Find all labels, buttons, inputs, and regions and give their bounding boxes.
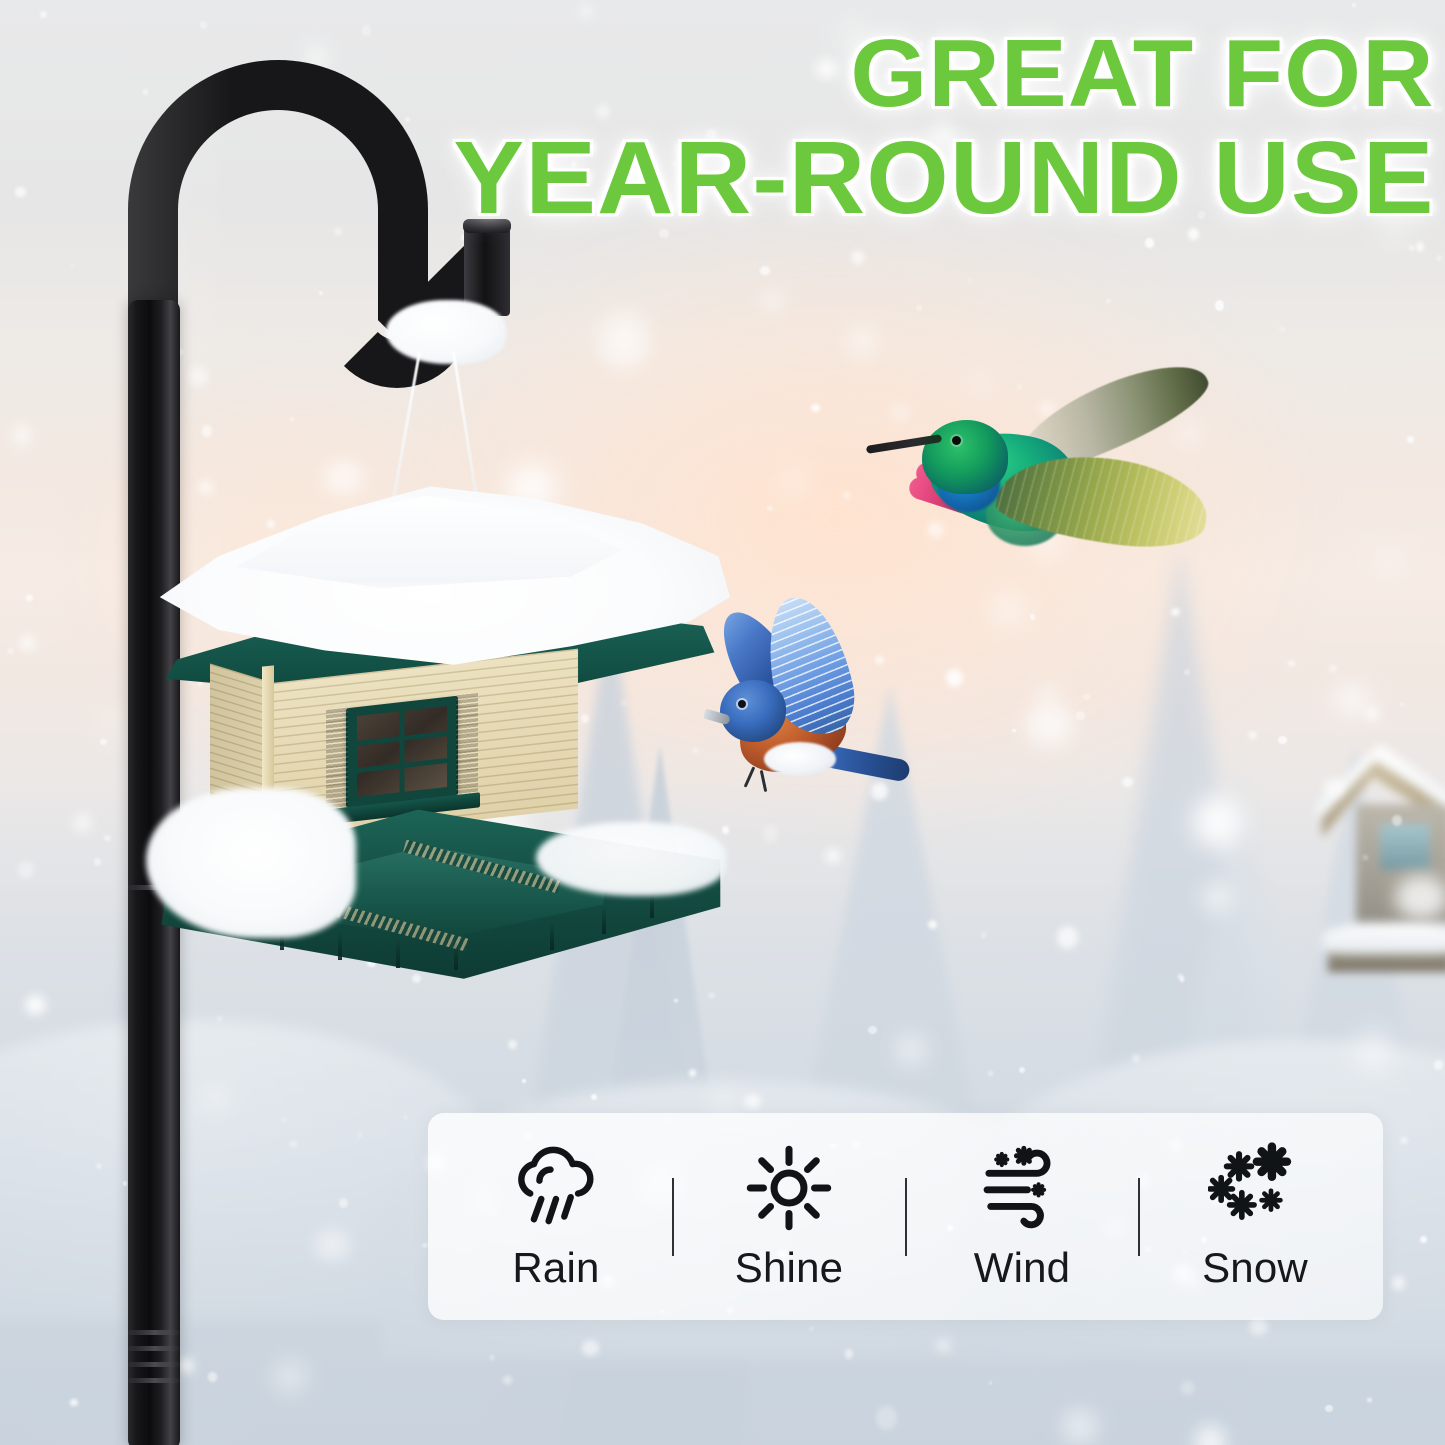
snow-particle xyxy=(689,1069,696,1077)
feature-label-snow: Snow xyxy=(1202,1244,1308,1292)
feature-rain: Rain xyxy=(472,1142,640,1292)
snow-particle xyxy=(1193,796,1242,848)
headline-line-1: GREAT FOR xyxy=(454,24,1435,124)
snow-particle xyxy=(582,1340,598,1355)
snow-particle xyxy=(1076,711,1086,720)
snow-particle xyxy=(1323,779,1343,796)
feature-label-wind: Wind xyxy=(974,1244,1071,1292)
snow-particle xyxy=(1395,875,1445,921)
feeder-window-shutter-right xyxy=(456,691,478,797)
snow-particle xyxy=(1409,245,1414,250)
pole-joint-rib xyxy=(128,1346,180,1351)
snow-particle xyxy=(843,492,851,499)
snow-particle xyxy=(868,1026,877,1034)
snow-particle xyxy=(876,1406,897,1430)
snow-particle xyxy=(1180,977,1184,981)
snow-particle xyxy=(1064,1410,1096,1443)
snow-particle xyxy=(988,1071,992,1076)
snow-particle xyxy=(781,469,806,493)
hummingbird-eye xyxy=(952,436,961,445)
snow-particle xyxy=(826,849,840,863)
snow-particle xyxy=(1132,1054,1140,1063)
snow-particle xyxy=(1204,885,1230,910)
snow-particle xyxy=(1215,300,1225,311)
snow-particle xyxy=(916,305,922,311)
snow-particle xyxy=(1420,1236,1427,1243)
feature-wind: Wind xyxy=(938,1142,1106,1292)
snow-particle xyxy=(1392,815,1402,825)
snow-particle xyxy=(1012,729,1015,732)
snow-particle xyxy=(1400,703,1404,706)
snow-particle xyxy=(1416,242,1424,252)
feeder-window xyxy=(346,696,458,809)
snow-particle xyxy=(1378,550,1401,572)
snow-particle xyxy=(936,1339,950,1351)
feature-label-rain: Rain xyxy=(512,1244,599,1292)
snow-particle xyxy=(1036,684,1060,704)
snow-particle xyxy=(1083,694,1090,700)
snow-particle xyxy=(767,506,773,511)
snow-particle xyxy=(1354,1030,1395,1072)
feeder-tray-rib xyxy=(550,922,554,950)
snow-particle xyxy=(580,5,591,17)
snow-particle xyxy=(1145,238,1154,247)
bird-feeder xyxy=(150,470,750,1030)
bluebird xyxy=(712,600,942,830)
feature-divider xyxy=(672,1178,674,1256)
snow-particle xyxy=(989,1381,992,1384)
snow-particle xyxy=(811,404,820,412)
snow-particle xyxy=(1178,974,1184,979)
pole-joint-rib xyxy=(128,1378,180,1383)
feeder-tray-snow-left xyxy=(146,788,356,938)
wind-icon xyxy=(972,1142,1072,1234)
rain-cloud-icon xyxy=(506,1142,606,1234)
snow-particle xyxy=(810,1327,813,1330)
snow-particle xyxy=(1363,855,1368,860)
bluebird-eye xyxy=(738,700,746,708)
snow-particle xyxy=(1325,1405,1333,1412)
snow-particle xyxy=(946,669,963,687)
sun-icon xyxy=(739,1142,839,1234)
headline-line-2: YEAR-ROUND USE xyxy=(454,124,1435,231)
snow-particle xyxy=(599,313,649,369)
bluebird-head xyxy=(720,680,786,742)
snow-particle xyxy=(1352,3,1355,6)
feeder-tray-rib xyxy=(338,932,342,960)
banner-stage: GREAT FOR YEAR-ROUND USE Rain xyxy=(0,0,1445,1445)
feeder-window-frame xyxy=(346,696,458,809)
feeder-window-glass xyxy=(357,706,447,797)
feature-label-shine: Shine xyxy=(735,1244,843,1292)
snow-particle xyxy=(1334,685,1370,716)
feature-shine: Shine xyxy=(705,1142,873,1292)
snow-particle xyxy=(1184,669,1190,675)
snow-particle xyxy=(1434,1060,1443,1070)
weather-feature-panel: Rain Shine xyxy=(428,1113,1383,1320)
snow-particle xyxy=(1392,1276,1405,1290)
snow-particle xyxy=(1106,299,1111,304)
snow-particle xyxy=(760,266,770,275)
pole-joint-rib xyxy=(128,1362,180,1367)
bluebird-belly xyxy=(764,742,836,776)
feeder-window-mullion-vertical xyxy=(400,711,405,793)
snow-particle xyxy=(1122,777,1133,787)
snow-particle xyxy=(744,1094,761,1109)
snow-particle xyxy=(845,1349,853,1358)
snow-particle xyxy=(1026,703,1073,746)
snow-particle xyxy=(1019,1067,1026,1073)
snow-particle xyxy=(1400,1137,1407,1144)
snow-particle xyxy=(1437,256,1441,260)
bluebird-foot xyxy=(760,770,768,792)
snow-particle xyxy=(928,920,937,929)
feeder-tray-rib xyxy=(396,940,400,968)
feature-divider xyxy=(905,1178,907,1256)
feeder-tray-snow-right xyxy=(536,822,726,896)
snow-particle xyxy=(1057,926,1078,949)
snow-particle xyxy=(1281,327,1284,331)
hook-snow-cap xyxy=(386,300,506,364)
snow-particle xyxy=(1278,736,1287,744)
feeder-tray-rib xyxy=(454,942,458,970)
snow-particle xyxy=(852,251,864,264)
feature-snow: Snow xyxy=(1171,1142,1339,1292)
snow-particle xyxy=(1330,666,1336,671)
snow-particle xyxy=(761,292,784,311)
headline: GREAT FOR YEAR-ROUND USE xyxy=(482,24,1435,231)
snow-particle xyxy=(1249,1318,1268,1336)
snow-particle xyxy=(1365,707,1380,721)
snow-particle xyxy=(1248,731,1257,739)
snow-particle xyxy=(1181,1381,1194,1395)
snow-particle xyxy=(1288,661,1295,666)
hummingbird-head xyxy=(922,420,1008,494)
snow-particle xyxy=(1343,385,1346,388)
snow-particle xyxy=(713,1090,735,1112)
feature-divider xyxy=(1138,1178,1140,1256)
snow-particle xyxy=(1407,436,1415,443)
bluebird-foot xyxy=(744,766,756,787)
feeder-tray-rib xyxy=(602,906,606,934)
snow-particle xyxy=(1367,1398,1372,1402)
snow-particle xyxy=(591,1094,597,1100)
snowflakes-icon xyxy=(1205,1142,1305,1234)
snow-particle xyxy=(981,932,986,938)
snow-particle xyxy=(899,1037,923,1063)
feeder-window-shutter-left xyxy=(326,706,348,812)
snow-particle xyxy=(968,279,972,283)
snow-particle xyxy=(851,329,873,353)
snow-particle xyxy=(1195,1425,1226,1445)
pole-joint-rib xyxy=(128,1330,180,1335)
